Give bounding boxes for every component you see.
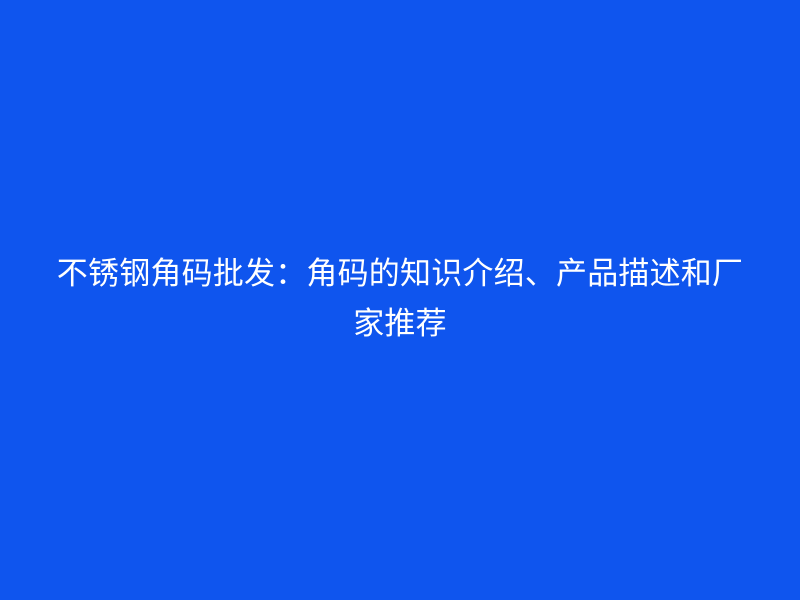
title-block: 不锈钢角码批发：角码的知识介绍、产品描述和厂家推荐 [55,249,745,349]
banner-canvas: 不锈钢角码批发：角码的知识介绍、产品描述和厂家推荐 [0,0,800,600]
page-title: 不锈钢角码批发：角码的知识介绍、产品描述和厂家推荐 [55,249,745,349]
